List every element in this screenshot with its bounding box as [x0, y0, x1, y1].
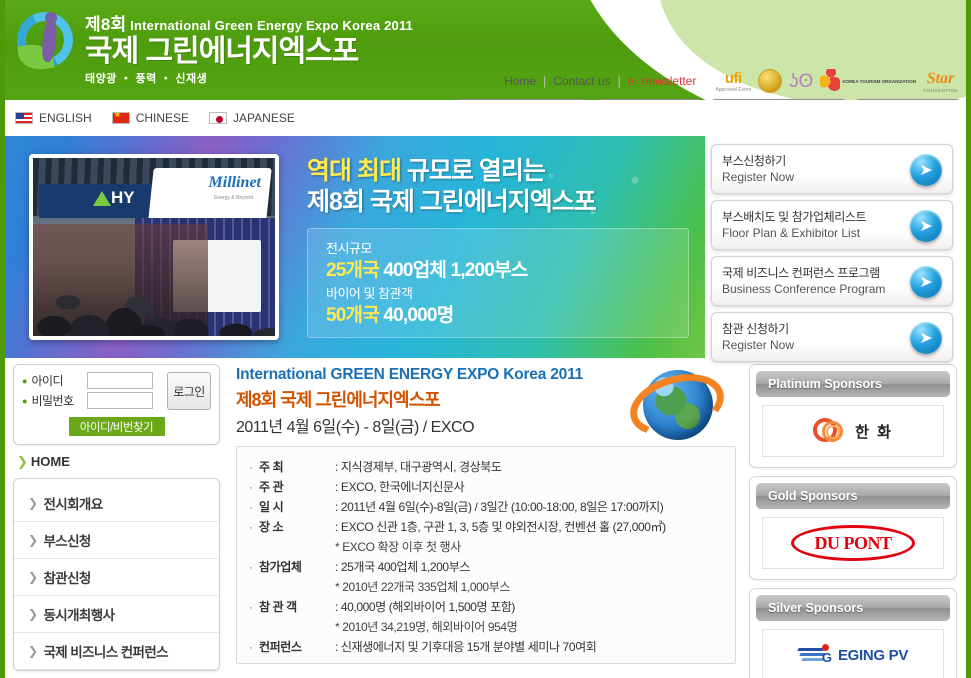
- language-selector-bar: ENGLISH CHINESE JAPANESE: [5, 100, 966, 136]
- banner-headline-highlight: 역대 최대: [307, 157, 401, 185]
- bullet-icon: ·: [249, 637, 259, 657]
- logo-ordinal: 제8회: [85, 15, 126, 34]
- info-value: : 지식경제부, 대구광역시, 경상북도: [335, 457, 502, 477]
- chevron-right-icon: ❯: [28, 570, 37, 584]
- quick-link-business-conference[interactable]: 국제 비즈니스 컨퍼런스 프로그램 Business Conference Pr…: [711, 256, 953, 306]
- banner-headline-2: 제8회 국제 그린에너지엑스포: [307, 186, 689, 218]
- nav-button-sponsorship[interactable]: 후원신청: [596, 99, 704, 100]
- sidebar-home-link[interactable]: ❯HOME: [17, 454, 220, 470]
- silver-sponsors-box: Silver Sponsors G EGING PV: [749, 588, 957, 678]
- banner-stat-2-countries: 50개국: [326, 305, 379, 326]
- bullet-icon: ·: [249, 457, 259, 477]
- top-utility-links: Home | Contact us | e- newsletter ufi Ap…: [497, 64, 966, 98]
- info-value: : 2011년 4월 6일(수)-8일(금) / 3일간 (10:00-18:0…: [335, 497, 663, 517]
- gold-sponsor-logo[interactable]: DU PONT: [762, 517, 944, 569]
- login-id-label: 아이디: [31, 372, 83, 389]
- logo-subtitle-line: 제8회 International Green Energy Expo Kore…: [85, 10, 413, 35]
- banner-stat-1-countries: 25개국: [326, 260, 379, 281]
- info-row: ·일 시: 2011년 4월 6일(수)-8일(금) / 3일간 (10:00-…: [249, 497, 735, 517]
- logo-english-title: International Green Energy Expo Korea 20…: [130, 18, 413, 33]
- nav-button-faq[interactable]: FAQ: [854, 99, 962, 100]
- quick-link-2-kr: 부스배치도 및 참가업체리스트: [722, 209, 898, 225]
- info-value: : 25개국 400업체 1,200부스: [335, 557, 470, 577]
- sidebar-item-conference-label: 국제 비즈니스 컨퍼런스: [43, 641, 168, 661]
- certification-seal-icon: [758, 64, 782, 98]
- nav-button-green-promotion[interactable]: Green Promotion: [710, 99, 848, 100]
- dupont-logo-icon: DU PONT: [791, 525, 915, 561]
- page-root: 제8회 International Green Energy Expo Kore…: [0, 0, 971, 678]
- bullet-icon: ·: [249, 557, 259, 577]
- main-content: International GREEN ENERGY EXPO Korea 20…: [220, 358, 745, 676]
- arrow-right-icon: ➤: [910, 266, 942, 298]
- ufi-wordmark: ufi: [725, 70, 742, 87]
- sidebar-item-events-label: 동시개최행사: [43, 604, 114, 624]
- quick-link-3-kr: 국제 비즈니스 컨퍼런스 프로그램: [722, 265, 898, 281]
- us-flag-icon: [15, 112, 33, 124]
- info-subnote: * 2010년 34,219명, 해외바이어 954명: [335, 617, 735, 637]
- quick-link-floor-plan[interactable]: 부스배치도 및 참가업체리스트 Floor Plan & Exhibitor L…: [711, 200, 953, 250]
- swirl-association-icon: ʖʘ: [789, 64, 813, 98]
- sidebar-item-overview[interactable]: ❯ 전시회개요: [14, 485, 219, 522]
- quick-link-4-en: Register Now: [722, 337, 898, 353]
- info-label: 참 관 객: [259, 597, 335, 617]
- info-label: 일 시: [259, 497, 335, 517]
- kto-sublabel: KOREA TOURISM ORGANIZATION: [842, 79, 916, 84]
- banner-stats-box: 전시규모 25개국 400업체 1,200부스 바이어 및 참관객 50개국 4…: [307, 228, 689, 338]
- info-value: : EXCO 신관 1층, 구관 1, 3, 5층 및 야외전시장, 컨벤션 홀…: [335, 517, 666, 537]
- china-flag-icon: [112, 112, 130, 124]
- arrow-right-icon: ➤: [910, 154, 942, 186]
- banner-stat-2-rest: 40,000명: [383, 305, 453, 326]
- photo-booth-millinet-label: Millinet: [209, 174, 261, 192]
- language-english[interactable]: ENGLISH: [15, 111, 92, 125]
- find-id-password-button[interactable]: 아이디/비번찾기: [69, 417, 165, 436]
- star-convention-icon: Star CONVENTION: [923, 64, 958, 98]
- chevron-right-icon: ❯: [28, 644, 37, 658]
- exhibition-hall-photo: HY Millinet Energy & Beyond: [29, 154, 279, 340]
- main-nav-buttons: 참가업체 My Page 후원신청 Green Promotion FAQ: [454, 99, 962, 100]
- info-row: ·장 소: EXCO 신관 1층, 구관 1, 3, 5층 및 야외전시장, 컨…: [249, 517, 735, 537]
- quick-link-2-en: Floor Plan & Exhibitor List: [722, 225, 898, 241]
- quick-link-3-en: Business Conference Program: [722, 281, 898, 297]
- banner-stat-value-2: 50개국 40,000명: [326, 303, 688, 329]
- gold-sponsors-header: Gold Sponsors: [756, 483, 950, 509]
- ufi-sublabel: Approved Event: [715, 87, 751, 93]
- sidebar-nav-list: ❯ 전시회개요 ❯ 부스신청 ❯ 참관신청 ❯ 동시개최행사 ❯ 국제 비즈: [13, 478, 220, 671]
- banner-headline-rest: 규모로 열리는: [401, 157, 545, 185]
- language-chinese-label: CHINESE: [136, 111, 189, 125]
- site-header: 제8회 International Green Energy Expo Kore…: [5, 0, 966, 100]
- sidebar-item-visitor-application[interactable]: ❯ 참관신청: [14, 559, 219, 596]
- nav-button-my-page[interactable]: 참가업체 My Page: [454, 99, 590, 100]
- sidebar-item-concurrent-events[interactable]: ❯ 동시개최행사: [14, 596, 219, 633]
- logo-tagline: 태양광 ・ 풍력 ・ 신재생: [85, 70, 413, 86]
- hanwha-logo-text: 한 화: [855, 421, 893, 442]
- login-pw-input[interactable]: [87, 392, 153, 409]
- language-japanese[interactable]: JAPANESE: [209, 111, 295, 125]
- info-row: ·주 최: 지식경제부, 대구광역시, 경상북도: [249, 457, 735, 477]
- language-english-label: ENGLISH: [39, 111, 92, 125]
- logo-person-head-shape: [45, 12, 57, 24]
- login-button[interactable]: 로그인: [167, 372, 211, 410]
- event-info-box: ·주 최: 지식경제부, 대구광역시, 경상북도 ·주 관: EXCO, 한국에…: [236, 446, 736, 664]
- platinum-sponsor-logo[interactable]: 한 화: [762, 405, 944, 457]
- sidebar-item-visitor-label: 참관신청: [43, 567, 90, 587]
- hanwha-logo-icon: [813, 416, 847, 446]
- language-japanese-label: JAPANESE: [233, 111, 295, 125]
- info-label: 컨퍼런스: [259, 637, 335, 657]
- hero-banner-copy: 역대 최대 규모로 열리는 제8회 국제 그린에너지엑스포 전시규모 25개국 …: [307, 156, 689, 338]
- silver-sponsor-logo[interactable]: G EGING PV: [762, 629, 944, 678]
- sidebar-item-overview-label: 전시회개요: [43, 493, 102, 513]
- quick-link-1-en: Register Now: [722, 169, 898, 185]
- korea-tourism-organization-icon: KOREA TOURISM ORGANIZATION: [820, 64, 916, 98]
- arrow-right-icon: ➤: [910, 210, 942, 242]
- login-id-row: ● 아이디: [22, 372, 167, 389]
- quick-link-panel: 부스신청하기 Register Now ➤ 부스배치도 및 참가업체리스트 Fl…: [705, 136, 961, 358]
- quick-link-booth-register[interactable]: 부스신청하기 Register Now ➤: [711, 144, 953, 194]
- eging-pv-logo-text: EGING PV: [838, 647, 908, 664]
- star-sublabel: CONVENTION: [923, 88, 958, 93]
- banner-stat-caption-2: 바이어 및 참관객: [326, 284, 688, 303]
- hero-banner: HY Millinet Energy & Beyond 역대 최대 규모로 열리…: [5, 136, 966, 358]
- silver-sponsors-header: Silver Sponsors: [756, 595, 950, 621]
- ufi-approved-event-icon: ufi Approved Event: [715, 64, 751, 98]
- language-chinese[interactable]: CHINESE: [112, 111, 189, 125]
- banner-stat-value-1: 25개국 400업체 1,200부스: [326, 258, 688, 284]
- hero-banner-main[interactable]: HY Millinet Energy & Beyond 역대 최대 규모로 열리…: [5, 136, 705, 358]
- star-wordmark: Star: [927, 70, 955, 88]
- bullet-icon: ·: [249, 517, 259, 537]
- info-row: ·참 관 객: 40,000명 (해외바이어 1,500명 포함): [249, 597, 735, 617]
- sidebar-item-booth-label: 부스신청: [43, 530, 90, 550]
- login-id-input[interactable]: [87, 372, 153, 389]
- info-label: 주 최: [259, 457, 335, 477]
- info-subnote: * EXCO 확장 이후 첫 행사: [335, 537, 735, 557]
- banner-stat-1-rest: 400업체 1,200부스: [383, 260, 527, 281]
- info-value: : EXCO, 한국에너지신문사: [335, 477, 464, 497]
- logo-text-block[interactable]: 제8회 International Green Energy Expo Kore…: [85, 6, 413, 86]
- bullet-icon: ·: [249, 597, 259, 617]
- info-value: : 40,000명 (해외바이어 1,500명 포함): [335, 597, 515, 617]
- quick-link-visitor-register[interactable]: 참관 신청하기 Register Now ➤: [711, 312, 953, 362]
- photo-booth-hy-label: HY: [111, 188, 135, 208]
- info-label: 참가업체: [259, 557, 335, 577]
- bullet-icon: ●: [22, 396, 27, 406]
- chevron-right-icon: ❯: [17, 454, 28, 469]
- platinum-sponsors-box: Platinum Sponsors 한 화: [749, 364, 957, 468]
- info-value: : 신재생에너지 및 기후대응 15개 분야별 세미나 70여회: [335, 637, 596, 657]
- quick-link-1-kr: 부스신청하기: [722, 153, 898, 169]
- login-box: ● 아이디 ● 비밀번호 로그인 아이디/비번찾기: [13, 364, 220, 445]
- globe-icon: [627, 362, 727, 448]
- expo-logo-icon[interactable]: [15, 10, 77, 72]
- platinum-sponsors-header: Platinum Sponsors: [756, 371, 950, 397]
- arrow-right-icon: ➤: [910, 322, 942, 354]
- content-area: ● 아이디 ● 비밀번호 로그인 아이디/비번찾기 ❯H: [5, 358, 966, 676]
- sponsors-panel: Platinum Sponsors 한 화 Gold Sponsors DU P…: [745, 358, 957, 676]
- bullet-icon: ●: [22, 376, 27, 386]
- info-subnote: * 2010년 22개국 335업체 1,000부스: [335, 577, 735, 597]
- info-row: ·컨퍼런스: 신재생에너지 및 기후대응 15개 분야별 세미나 70여회: [249, 637, 735, 657]
- gold-sponsors-box: Gold Sponsors DU PONT: [749, 476, 957, 580]
- chevron-right-icon: ❯: [28, 496, 37, 510]
- sidebar-item-business-conference[interactable]: ❯ 국제 비즈니스 컨퍼런스: [14, 633, 219, 670]
- sidebar-item-booth-application[interactable]: ❯ 부스신청: [14, 522, 219, 559]
- login-pw-label: 비밀번호: [31, 392, 83, 409]
- logo-korean-title: 국제 그린에너지엑스포: [85, 35, 413, 69]
- left-sidebar: ● 아이디 ● 비밀번호 로그인 아이디/비번찾기 ❯H: [5, 358, 220, 676]
- info-row: ·주 관: EXCO, 한국에너지신문사: [249, 477, 735, 497]
- info-label: 장 소: [259, 517, 335, 537]
- chevron-right-icon: ❯: [28, 607, 37, 621]
- chevron-right-icon: ❯: [28, 533, 37, 547]
- sidebar-home-label: HOME: [31, 454, 70, 469]
- banner-headline-1: 역대 최대 규모로 열리는: [307, 156, 689, 186]
- photo-booth-millinet-sublabel: Energy & Beyond: [214, 195, 253, 201]
- link-e-newsletter[interactable]: e- newsletter: [621, 74, 704, 88]
- eging-pv-logo-icon: G EGING PV: [798, 644, 908, 666]
- quick-link-4-kr: 참관 신청하기: [722, 321, 898, 337]
- bullet-icon: ·: [249, 477, 259, 497]
- bullet-icon: ·: [249, 497, 259, 517]
- link-contact-us[interactable]: Contact us: [546, 74, 617, 88]
- partner-logo-strip: ufi Approved Event ʖʘ KOREA TOURISM ORGA…: [715, 64, 966, 98]
- japan-flag-icon: [209, 112, 227, 124]
- info-row: ·참가업체: 25개국 400업체 1,200부스: [249, 557, 735, 577]
- banner-stat-caption-1: 전시규모: [326, 239, 688, 258]
- login-pw-row: ● 비밀번호: [22, 392, 167, 409]
- link-home[interactable]: Home: [497, 74, 543, 88]
- info-label: 주 관: [259, 477, 335, 497]
